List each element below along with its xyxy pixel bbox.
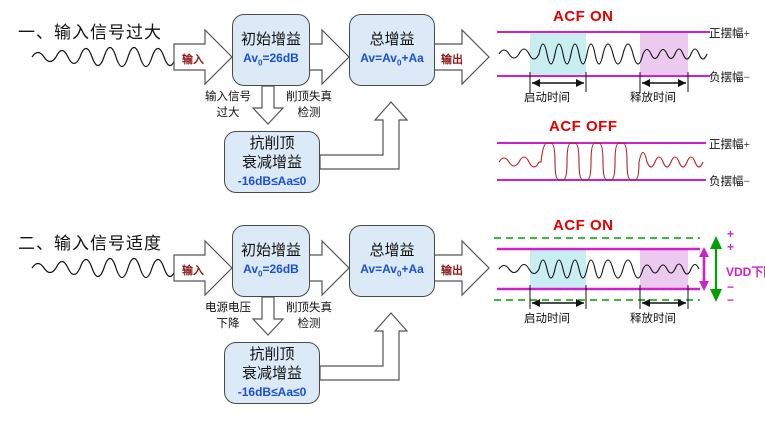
attack-time-label-1: 启动时间 (524, 89, 570, 105)
link-label-left-2: 电源电压 下降 (196, 301, 260, 332)
box-attenuator-2-line1: 抗削顶 (249, 346, 294, 365)
section-input-signal-moderate: 二、输入信号适度 (0, 211, 765, 421)
link-label-right-1-line2: 检测 (277, 106, 341, 122)
box-total-gain-2-formula: Av=Av0+Aa (360, 262, 424, 279)
release-band-on (640, 32, 688, 76)
vdd-plus-outer: + (727, 227, 734, 241)
acf-off-title-1: ACF OFF (549, 118, 618, 135)
box-initial-gain-1[interactable]: 初始增益 Av0=26dB (232, 14, 310, 86)
output-label-1: 输出 (441, 51, 463, 67)
box-initial-gain-2-title: 初始增益 (241, 242, 301, 261)
box-total-gain-2[interactable]: 总增益 Av=Av0+Aa (349, 225, 435, 297)
section-input-signal-too-large: 一、输入信号过大 (0, 0, 765, 210)
box-total-gain-2-title: 总增益 (369, 242, 414, 261)
arrow-initial-to-total (309, 30, 349, 84)
box-attenuator-1-formula: -16dB≤Aa≤0 (238, 174, 307, 189)
link-label-left-2-line2: 下降 (196, 317, 260, 333)
box-attenuator-2-formula: -16dB≤Aa≤0 (238, 385, 307, 400)
output-label-2: 输出 (441, 262, 463, 278)
box-total-gain-1-formula: Av=Av0+Aa (360, 51, 424, 68)
acf-off-waveform (499, 143, 703, 180)
release-time-label-1: 释放时间 (630, 89, 676, 105)
link-label-right-1: 削顶失真 检测 (277, 90, 341, 121)
attack-dimension-arrow (532, 79, 584, 87)
acf-on-title-1: ACF ON (553, 8, 614, 25)
link-label-left-1-line1: 输入信号 (196, 90, 260, 106)
link-label-right-2: 削顶失真 检测 (277, 301, 341, 332)
neg-swing-label-1: 负摆幅− (709, 69, 750, 85)
link-label-right-2-line2: 检测 (277, 317, 341, 333)
vdd-minus-outer: − (727, 293, 734, 307)
box-attenuator-1-line2: 衰减增益 (242, 154, 302, 173)
vdd-inner-double-arrow (699, 247, 709, 291)
link-label-left-1-line2: 过大 (196, 106, 260, 122)
box-initial-gain-1-title: 初始增益 (241, 31, 301, 50)
box-total-gain-1[interactable]: 总增益 Av=Av0+Aa (349, 14, 435, 86)
neg-swing-label-off-1: 负摆幅− (709, 173, 750, 189)
input-label-2: 输入 (182, 262, 204, 278)
vdd-drop-label: VDD下降 (726, 263, 765, 280)
release-time-label-2: 释放时间 (630, 310, 676, 326)
link-label-left-1: 输入信号 过大 (196, 90, 260, 121)
pos-swing-label-1: 正摆幅+ (709, 25, 750, 41)
box-attenuator-2[interactable]: 抗削顶 衰减增益 -16dB≤Aa≤0 (224, 342, 320, 404)
box-initial-gain-2[interactable]: 初始增益 Av0=26dB (232, 225, 310, 297)
box-initial-gain-2-formula: Av0=26dB (243, 262, 299, 279)
box-attenuator-1-line1: 抗削顶 (249, 135, 294, 154)
box-attenuator-2-line2: 衰减增益 (242, 365, 302, 384)
vdd-minus-inner: − (727, 280, 734, 294)
attack-time-label-2: 启动时间 (524, 310, 570, 326)
box-initial-gain-1-formula: Av0=26dB (243, 51, 299, 68)
release-dimension-arrow (642, 79, 686, 87)
arrow-initial-to-total-2 (309, 241, 349, 295)
box-total-gain-1-title: 总增益 (369, 31, 414, 50)
vdd-plus-inner: + (727, 240, 734, 254)
link-label-left-2-line1: 电源电压 (196, 301, 260, 317)
box-attenuator-1[interactable]: 抗削顶 衰减增益 -16dB≤Aa≤0 (224, 131, 320, 193)
link-label-right-1-line1: 削顶失真 (277, 90, 341, 106)
vdd-outer-double-arrow (710, 236, 722, 302)
pos-swing-label-off-1: 正摆幅+ (709, 136, 750, 152)
release-band-on-2 (640, 249, 688, 289)
acf-on-title-2: ACF ON (553, 217, 614, 234)
link-label-right-2-line1: 削顶失真 (277, 301, 341, 317)
input-label-1: 输入 (182, 51, 204, 67)
